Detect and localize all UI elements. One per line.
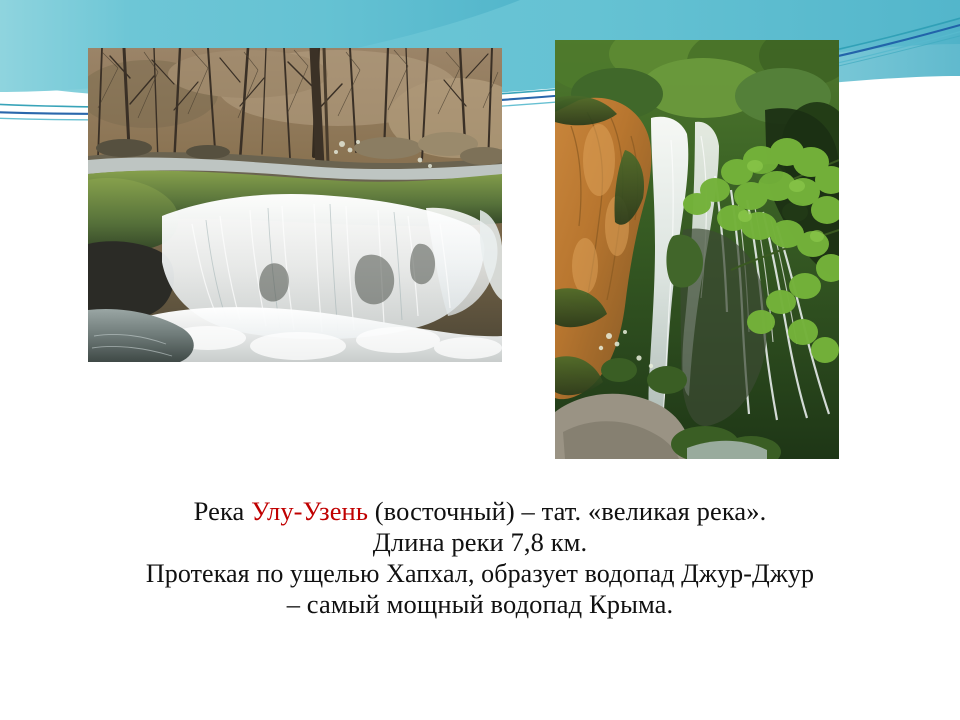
caption-line1-suffix: (восточный) – тат. «великая река».	[368, 496, 766, 526]
caption-line-2: Длина реки 7,8 км.	[40, 527, 920, 558]
caption-line-4: – самый мощный водопад Крыма.	[40, 589, 920, 620]
slide-canvas: Широкий каскадный водопад на реке Улу-Уз…	[0, 0, 960, 720]
caption-block: Река Улу-Узень (восточный) – тат. «велик…	[40, 496, 920, 620]
river-name-highlight: Улу-Узень	[251, 496, 368, 526]
caption-line-3: Протекая по ущелью Хапхал, образует водо…	[40, 558, 920, 589]
waterfall-dzhur-dzhur: Высокий водопад Джур-Джур в ущелье Хапха…	[555, 40, 839, 459]
waterfall-ulu-uzen-cascade-graphic: Широкий каскадный водопад на реке Улу-Уз…	[88, 48, 502, 362]
waterfall-dzhur-dzhur-graphic: Высокий водопад Джур-Джур в ущелье Хапха…	[555, 40, 839, 459]
waterfall-ulu-uzen-cascade: Широкий каскадный водопад на реке Улу-Уз…	[88, 48, 502, 362]
caption-line-1: Река Улу-Узень (восточный) – тат. «велик…	[40, 496, 920, 527]
caption-line1-prefix: Река	[194, 496, 252, 526]
